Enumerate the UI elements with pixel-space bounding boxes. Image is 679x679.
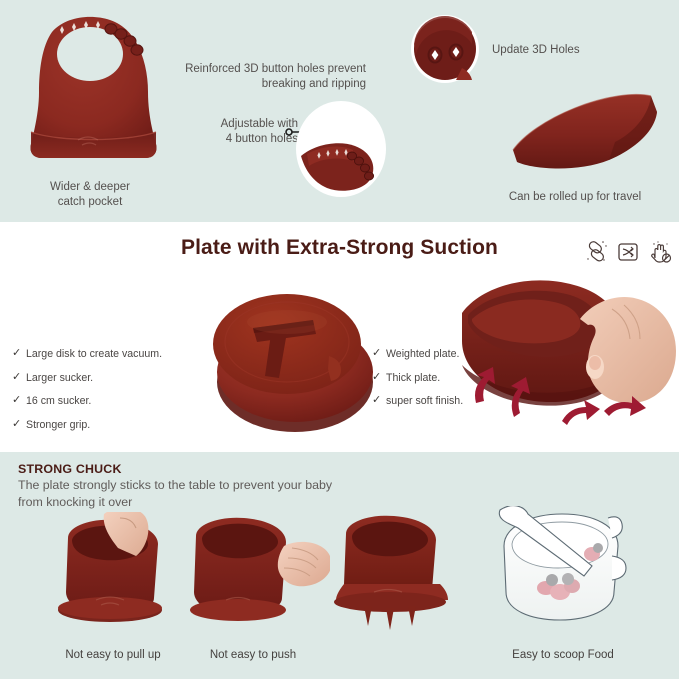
feature-right-label: Weighted plate. bbox=[386, 348, 459, 360]
feature-right-label: Thick plate. bbox=[386, 372, 440, 384]
feature-left-label: Large disk to create vacuum. bbox=[26, 348, 162, 360]
feature-right-label: super soft finish. bbox=[386, 395, 463, 407]
feature-left-label: Stronger grip. bbox=[26, 419, 90, 431]
check-icon: ✓ bbox=[12, 348, 26, 359]
suction-plate-image bbox=[195, 272, 390, 437]
feature-left-label: 16 cm sucker. bbox=[26, 395, 91, 407]
caption-reinforced-holes: Reinforced 3D button holes prevent break… bbox=[150, 62, 366, 92]
check-icon: ✓ bbox=[12, 419, 26, 430]
badge-icon-group bbox=[583, 238, 673, 266]
bowl-push-image bbox=[188, 512, 330, 630]
bowl-scoop-food-image bbox=[488, 506, 636, 636]
page-title: Plate with Extra-Strong Suction bbox=[0, 236, 679, 260]
bowl-suction-base-image bbox=[330, 512, 458, 634]
caption-not-easy-push: Not easy to push bbox=[178, 648, 328, 663]
caption-update-3d-holes: Update 3D Holes bbox=[492, 43, 652, 58]
hand-pressing-plate-image bbox=[462, 275, 677, 440]
check-icon: ✓ bbox=[12, 372, 26, 383]
feature-left-label: Larger sucker. bbox=[26, 372, 93, 384]
rolled-bib-image bbox=[505, 90, 665, 172]
bowl-pull-up-image bbox=[48, 512, 176, 630]
feature-list-left: ✓Large disk to create vacuum.✓Larger suc… bbox=[12, 348, 207, 443]
safe-grip-hand-icon bbox=[647, 238, 673, 266]
bib-main-image bbox=[18, 12, 170, 180]
strong-chuck-heading: STRONG CHUCK bbox=[18, 461, 122, 477]
caption-not-easy-pull-up: Not easy to pull up bbox=[38, 648, 188, 663]
feature-left-item: ✓16 cm sucker. bbox=[12, 395, 207, 407]
3d-button-holes-image bbox=[410, 14, 480, 84]
feature-left-item: ✓Larger sucker. bbox=[12, 372, 207, 384]
infographic-page: Wider & deeper catch pocket Reinforced 3… bbox=[0, 0, 679, 679]
feature-left-item: ✓Large disk to create vacuum. bbox=[12, 348, 207, 360]
dishwasher-safe-icon bbox=[615, 238, 641, 266]
caption-catch-pocket: Wider & deeper catch pocket bbox=[10, 180, 170, 210]
non-stick-icon bbox=[583, 238, 609, 266]
strong-chuck-subheading: The plate strongly sticks to the table t… bbox=[18, 477, 448, 510]
button-strap-closeup-image bbox=[295, 100, 387, 198]
check-icon: ✓ bbox=[12, 395, 26, 406]
caption-easy-scoop-food: Easy to scoop Food bbox=[478, 648, 648, 663]
caption-rolled-for-travel: Can be rolled up for travel bbox=[480, 190, 670, 205]
feature-left-item: ✓Stronger grip. bbox=[12, 419, 207, 431]
